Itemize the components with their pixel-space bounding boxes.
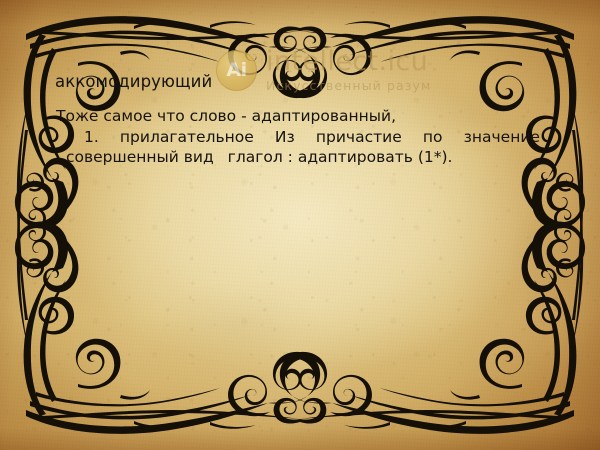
headword: аккомодирующий xyxy=(55,72,212,91)
definition-line-2-token: по xyxy=(423,127,443,148)
parchment-page: Ai intellect.icu Искусственный разум акк… xyxy=(0,0,600,450)
article-text-layer: аккомодирующий Тоже самое что слово - ад… xyxy=(0,0,600,450)
definition-line-3-token: глагол : адаптировать (1*). xyxy=(228,147,453,168)
definition-line-1: Тоже самое что слово - адаптированный, xyxy=(56,106,542,127)
definition-line-2-token: значение xyxy=(464,127,540,148)
definition-line-2-token: 1. xyxy=(84,127,99,148)
definition-line-2: 1. прилагательное Из причастие по значен… xyxy=(56,127,542,148)
definition-line-2-token: Из xyxy=(275,127,295,148)
definition-line-3: совершенный вид глагол : адаптировать (1… xyxy=(56,147,542,168)
definition-line-2-token: причастие xyxy=(316,127,402,148)
definition-line-3-token: совершенный вид xyxy=(66,147,214,168)
definition-body: Тоже самое что слово - адаптированный, 1… xyxy=(56,106,542,168)
definition-line-2-token: прилагательное xyxy=(120,127,254,148)
